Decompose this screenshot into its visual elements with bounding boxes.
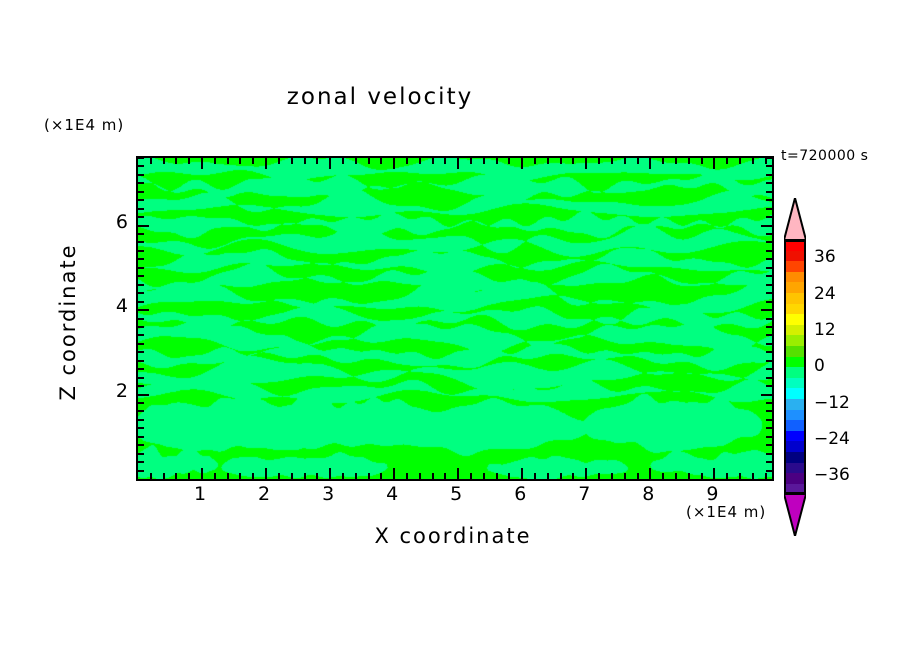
axis-tick [766,165,772,167]
axis-tick [752,473,754,479]
axis-tick [304,473,306,479]
axis-tick [662,158,664,164]
axis-tick [150,158,152,164]
axis-tick [560,473,562,479]
axis-tick [138,402,144,404]
axis-tick [766,427,772,429]
colorbar-band [784,378,806,389]
axis-tick [534,473,536,479]
colorbar-band [784,314,806,325]
axis-tick [444,473,446,479]
colorbar-band [784,304,806,315]
axis-tick [766,453,772,455]
axis-tick [766,174,772,176]
axis-tick [508,473,510,479]
axis-tick [432,158,434,164]
axis-tick [138,360,144,362]
axis-tick [419,158,421,164]
x-tick-label: 4 [372,483,412,505]
axis-tick [278,473,280,479]
colorbar-band [784,367,806,378]
axis-tick [761,225,772,227]
axis-tick [265,158,267,169]
x-tick-label: 9 [692,483,732,505]
axis-tick [138,377,144,379]
axis-tick [624,158,626,164]
axis-tick [355,158,357,164]
y-tick-label: 4 [88,295,128,317]
colorbar-band [784,251,806,262]
axis-tick [766,343,772,345]
axis-tick [214,473,216,479]
axis-tick [675,158,677,164]
axis-tick [239,158,241,164]
axis-tick [188,158,190,164]
axis-tick [138,461,144,463]
axis-tick [138,436,144,438]
colorbar-band [784,357,806,368]
axis-tick [138,191,144,193]
colorbar-band [784,420,806,431]
axis-tick [138,225,149,227]
axis-tick [766,292,772,294]
axis-tick [547,473,549,479]
axis-tick [138,453,144,455]
colorbar-band [784,431,806,442]
x-axis-unit-label: (×1E4 m) [686,503,766,521]
axis-tick [138,326,144,328]
colorbar-band [784,335,806,346]
axis-tick [355,473,357,479]
colorbar-band [784,410,806,421]
axis-tick [701,158,703,164]
axis-tick [637,158,639,164]
axis-tick [419,473,421,479]
timestamp-label: t=720000 s [781,148,868,164]
axis-tick [560,158,562,164]
axis-tick [765,473,767,479]
colorbar-band [784,463,806,474]
axis-tick [138,419,144,421]
axis-tick [766,275,772,277]
axis-tick [188,473,190,479]
colorbar-tick-label: −36 [814,465,850,485]
axis-tick [766,318,772,320]
axis-tick [624,473,626,479]
colorbar-band [784,325,806,336]
x-tick-label: 7 [564,483,604,505]
x-tick-label: 2 [244,483,284,505]
axis-tick [138,267,144,269]
axis-tick [329,158,331,169]
x-tick-label: 8 [628,483,668,505]
axis-tick [138,309,149,311]
colorbar-tick-label: 0 [814,356,825,376]
axis-tick [138,444,144,446]
axis-tick [138,427,144,429]
axis-tick [457,468,459,479]
axis-tick [138,292,144,294]
axis-tick [265,468,267,479]
axis-tick [252,473,254,479]
axis-tick [739,473,741,479]
axis-tick [138,410,144,412]
axis-tick [611,158,613,164]
x-tick-label: 5 [436,483,476,505]
axis-tick [739,158,741,164]
axis-tick [572,473,574,479]
axis-tick [444,158,446,164]
colorbar-band [784,473,806,484]
colorbar-band [784,261,806,272]
axis-tick [649,158,651,169]
axis-tick [766,157,772,159]
axis-tick [585,468,587,479]
y-axis-title: Z coordinate [56,202,80,442]
axis-tick [406,473,408,479]
colorbar-over-arrow [784,198,806,240]
axis-tick [766,233,772,235]
axis-tick [163,473,165,479]
axis-tick [766,208,772,210]
axis-tick [138,174,144,176]
axis-tick [138,233,144,235]
axis-tick [521,158,523,169]
colorbar-band [784,399,806,410]
axis-tick [278,158,280,164]
axis-tick [496,158,498,164]
axis-tick [766,191,772,193]
axis-tick [393,468,395,479]
axis-tick [483,473,485,479]
axis-tick [483,158,485,164]
axis-tick [138,250,144,252]
axis-tick [329,468,331,479]
axis-tick [496,473,498,479]
y-axis-unit-label: (×1E4 m) [44,116,124,134]
axis-tick [598,473,600,479]
axis-tick [766,241,772,243]
contour-field [138,158,772,479]
colorbar-band [784,282,806,293]
axis-tick [766,267,772,269]
axis-tick [368,473,370,479]
x-tick-label: 6 [500,483,540,505]
x-axis-title: X coordinate [136,524,770,548]
colorbar-tick-label: 12 [814,320,836,340]
axis-tick [766,436,772,438]
axis-tick [675,473,677,479]
axis-tick [138,157,144,159]
contour-plot-area [136,156,774,481]
axis-tick [766,410,772,412]
axis-tick [534,158,536,164]
axis-tick [291,473,293,479]
colorbar-band [784,388,806,399]
axis-tick [521,468,523,479]
axis-tick [726,473,728,479]
axis-tick [766,351,772,353]
axis-tick [457,158,459,169]
axis-tick [688,473,690,479]
axis-tick [342,473,344,479]
axis-tick [201,468,203,479]
axis-tick [766,301,772,303]
colorbar-tick-label: 24 [814,284,836,304]
x-tick-label: 1 [180,483,220,505]
axis-tick [508,158,510,164]
axis-tick [138,216,144,218]
axis-tick [470,473,472,479]
axis-tick [138,165,144,167]
colorbar-tick-label: −12 [814,393,850,413]
axis-tick [138,258,144,260]
axis-tick [138,351,144,353]
axis-tick [752,158,754,164]
axis-tick [713,158,715,169]
axis-tick [175,473,177,479]
colorbar-band [784,484,806,495]
page-title: zonal velocity [0,84,760,110]
axis-tick [138,394,149,396]
axis-tick [393,158,395,169]
axis-tick [766,461,772,463]
axis-tick [380,473,382,479]
colorbar-band [784,240,806,251]
axis-tick [688,158,690,164]
axis-tick [138,470,144,472]
axis-tick [572,158,574,164]
axis-tick [766,216,772,218]
colorbar-band [784,293,806,304]
axis-tick [138,318,144,320]
axis-tick [227,158,229,164]
axis-tick [201,158,203,169]
axis-tick [766,199,772,201]
axis-tick [766,444,772,446]
colorbar-band [784,346,806,357]
axis-tick [766,470,772,472]
axis-tick [175,158,177,164]
axis-tick [611,473,613,479]
axis-tick [138,334,144,336]
axis-tick [761,309,772,311]
axis-tick [380,158,382,164]
axis-tick [138,182,144,184]
axis-tick [766,182,772,184]
axis-tick [766,385,772,387]
axis-tick [726,158,728,164]
axis-tick [766,258,772,260]
axis-tick [766,250,772,252]
axis-tick [138,284,144,286]
axis-tick [766,334,772,336]
axis-tick [368,158,370,164]
axis-tick [766,326,772,328]
axis-tick [701,473,703,479]
y-tick-label: 2 [88,380,128,402]
axis-tick [761,394,772,396]
axis-tick [138,343,144,345]
axis-tick [637,473,639,479]
axis-tick [432,473,434,479]
axis-tick [214,158,216,164]
y-tick-label: 6 [88,211,128,233]
axis-tick [138,368,144,370]
axis-tick [598,158,600,164]
axis-tick [649,468,651,479]
colorbar-band [784,452,806,463]
axis-tick [138,208,144,210]
colorbar-under-arrow [784,494,806,536]
axis-tick [227,473,229,479]
colorbar-tick-label: −24 [814,429,850,449]
axis-tick [239,473,241,479]
axis-tick [138,199,144,201]
axis-tick [138,385,144,387]
axis-tick [316,473,318,479]
x-tick-label: 3 [308,483,348,505]
axis-tick [316,158,318,164]
axis-tick [150,473,152,479]
axis-tick [713,468,715,479]
axis-tick [766,368,772,370]
axis-tick [585,158,587,169]
axis-tick [138,301,144,303]
axis-tick [342,158,344,164]
axis-tick [766,419,772,421]
colorbar-tick-label: 36 [814,247,836,267]
colorbar-band [784,441,806,452]
axis-tick [766,360,772,362]
axis-tick [291,158,293,164]
axis-tick [163,158,165,164]
axis-tick [662,473,664,479]
axis-tick [766,402,772,404]
axis-tick [138,275,144,277]
axis-tick [766,377,772,379]
axis-tick [406,158,408,164]
axis-tick [766,284,772,286]
axis-tick [252,158,254,164]
axis-tick [470,158,472,164]
axis-tick [304,158,306,164]
axis-tick [138,241,144,243]
axis-tick [547,158,549,164]
colorbar-band [784,272,806,283]
